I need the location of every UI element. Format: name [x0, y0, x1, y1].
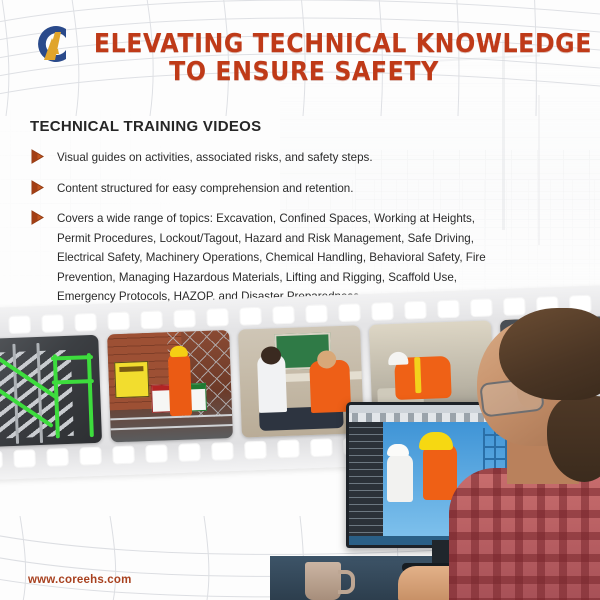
page-title-line-1: ELEVATING TECHNICAL KNOWLEDGE	[94, 30, 514, 58]
sprocket-hole	[371, 302, 394, 321]
sprocket-hole	[574, 429, 597, 448]
sprocket-hole	[8, 315, 31, 334]
sprocket-hole	[46, 448, 69, 467]
website-url[interactable]: www.coreehs.com	[28, 574, 132, 586]
hard-hat-icon	[539, 338, 561, 352]
green-vertical-post	[87, 353, 94, 437]
page-title: ELEVATING TECHNICAL KNOWLEDGE TO ENSURE …	[78, 30, 530, 86]
sprocket-hole	[310, 438, 333, 457]
film-frame-scaffold-stair-tower[interactable]	[0, 335, 102, 447]
sprocket-hole	[173, 309, 196, 328]
background-crane-tower-secondary	[538, 95, 540, 245]
sprocket-hole	[470, 298, 493, 317]
sprocket-hole	[305, 304, 328, 323]
sprocket-hole	[343, 437, 366, 456]
sprocket-hole	[140, 310, 163, 329]
section-heading: TECHNICAL TRAINING VIDEOS	[30, 118, 261, 135]
safety-harness	[414, 357, 421, 393]
film-frame-caution-signage-worker[interactable]	[107, 330, 233, 442]
app-taskbar	[349, 536, 571, 545]
person-hands	[398, 566, 468, 600]
poster-canvas: ELEVATING TECHNICAL KNOWLEDGE TO ENSURE …	[0, 0, 600, 600]
mesh-ribbon-bottom	[0, 516, 600, 600]
film-frame-ladder-work[interactable]	[500, 316, 600, 428]
worker-coveralls	[535, 348, 567, 411]
sprocket-hole	[74, 313, 97, 332]
bullet-list: Visual guides on activities, associated …	[30, 148, 498, 307]
sprocket-hole	[569, 295, 592, 314]
sprocket-hole	[508, 431, 531, 450]
film-strip	[0, 296, 600, 468]
film-frames	[0, 314, 600, 447]
sprocket-hole	[409, 435, 432, 454]
list-item: Content structured for easy comprehensio…	[30, 179, 498, 199]
sprocket-hole	[404, 301, 427, 320]
hard-hat-icon	[388, 351, 408, 365]
sprocket-hole	[437, 300, 460, 319]
monitor-base	[402, 563, 494, 572]
list-item-text: Visual guides on activities, associated …	[57, 148, 373, 168]
hard-hat-icon	[170, 346, 188, 358]
plaid-shirt	[449, 468, 600, 600]
sprocket-hole	[79, 447, 102, 466]
desk-surface	[270, 556, 600, 600]
caution-sign	[114, 361, 149, 398]
sprocket-hole	[536, 296, 559, 315]
guard-rail	[111, 424, 233, 430]
list-item: Visual guides on activities, associated …	[30, 148, 498, 168]
sprocket-hole	[145, 444, 168, 463]
sprocket-hole	[277, 440, 300, 459]
monitor-stand	[432, 540, 458, 566]
sprocket-hole	[13, 449, 36, 468]
coffee-mug-handle	[338, 570, 355, 594]
triangle-right-icon	[30, 210, 46, 225]
film-strip-band	[0, 284, 600, 481]
sprocket-hole	[338, 303, 361, 322]
worker-coveralls	[168, 353, 192, 416]
triangle-right-icon	[30, 149, 46, 164]
sprocket-hole	[239, 307, 262, 326]
sprocket-hole	[272, 306, 295, 325]
list-item-text: Content structured for easy comprehensio…	[57, 179, 353, 199]
sprocket-hole	[442, 433, 465, 452]
sprocket-hole	[503, 297, 526, 316]
sprocket-hole	[206, 308, 229, 327]
sprocket-hole	[475, 432, 498, 451]
coffee-mug	[305, 562, 341, 600]
sprocket-hole	[244, 441, 267, 460]
film-frame-first-aid-training[interactable]	[238, 325, 364, 437]
sprocket-hole	[211, 442, 234, 461]
sprocket-hole	[107, 312, 130, 331]
coreehs-logo[interactable]	[25, 18, 77, 70]
sprocket-hole	[0, 450, 3, 469]
sprocket-hole	[41, 314, 64, 333]
sprocket-hole	[112, 446, 135, 465]
film-frame-kneeling-worker[interactable]	[369, 320, 495, 432]
sprocket-hole	[541, 430, 564, 449]
sprocket-hole	[178, 443, 201, 462]
page-title-line-2: TO ENSURE SAFETY	[94, 58, 514, 86]
sprocket-hole	[376, 436, 399, 455]
triangle-right-icon	[30, 180, 46, 195]
